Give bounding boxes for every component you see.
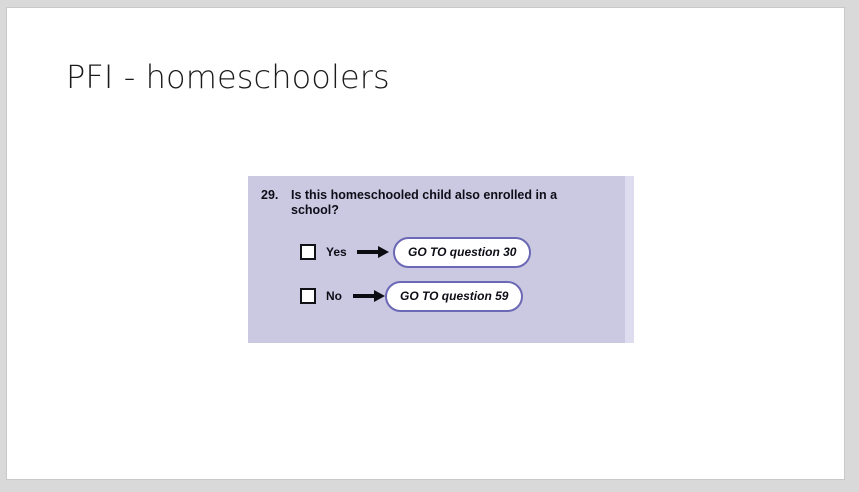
right-arrow-icon [353,290,385,302]
checkbox-yes[interactable] [300,244,316,260]
arrow-shaft [353,294,375,298]
answer-label-no: No [326,289,348,303]
answer-label-yes: Yes [326,245,352,259]
checkbox-no[interactable] [300,288,316,304]
arrow-head [374,290,385,302]
arrow-shaft [357,250,379,254]
answer-row-no[interactable]: No GO TO question 59 [300,282,523,310]
answer-row-yes[interactable]: Yes GO TO question 30 [300,238,531,266]
goto-pill-yes[interactable]: GO TO question 30 [393,237,531,268]
question-text: Is this homeschooled child also enrolled… [291,188,607,218]
survey-question-panel: 29. Is this homeschooled child also enro… [248,176,634,343]
page-title: PFI - homeschoolers [66,58,390,96]
goto-pill-yes-label: GO TO question 30 [408,245,516,259]
question-header: 29. Is this homeschooled child also enro… [261,188,621,218]
slide-canvas: PFI - homeschoolers 29. Is this homescho… [6,7,845,480]
goto-pill-no[interactable]: GO TO question 59 [385,281,523,312]
arrow-head [378,246,389,258]
slide-viewer: PFI - homeschoolers 29. Is this homescho… [0,0,859,492]
question-number: 29. [261,188,291,203]
right-arrow-icon [357,246,389,258]
goto-pill-no-label: GO TO question 59 [400,289,508,303]
panel-right-edge [625,176,634,343]
